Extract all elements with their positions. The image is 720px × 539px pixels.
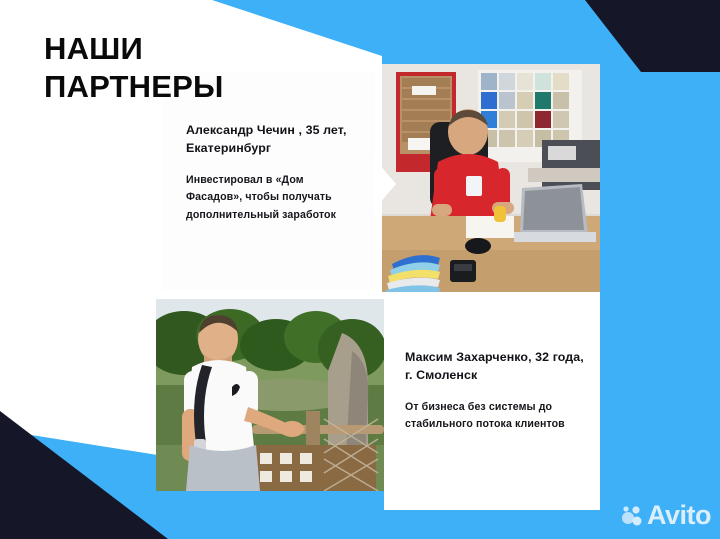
- testimonial-card-zakharchenko: Максим Захарченко, 32 года, г. Смоленск …: [384, 292, 600, 510]
- testimonial-card-chechin-body: Александр Чечин , 35 лет, Екатеринбург И…: [186, 122, 361, 224]
- avito-watermark: Avito: [621, 502, 711, 529]
- page-title: НАШИ ПАРТНЕРЫ: [44, 30, 344, 106]
- testimonial-description-chechin: Инвестировал в «Дом Фасадов», чтобы полу…: [186, 172, 361, 223]
- testimonial-name-zakharchenko: Максим Захарченко, 32 года, г. Смоленск: [405, 349, 585, 384]
- testimonial-name-chechin: Александр Чечин , 35 лет, Екатеринбург: [186, 122, 361, 157]
- testimonial-card-zakharchenko-body: Максим Захарченко, 32 года, г. Смоленск …: [405, 349, 585, 434]
- testimonial-description-zakharchenko: От бизнеса без системы до стабильного по…: [405, 399, 585, 433]
- chechin-photo-graphic: [382, 64, 600, 292]
- chevron-right-icon: [374, 158, 396, 210]
- slide-screenshot: НАШИ ПАРТНЕРЫ: [0, 0, 720, 539]
- testimonial-photo-chechin: [382, 64, 600, 292]
- avito-wordmark: Avito: [647, 502, 711, 529]
- avito-dots-icon: [621, 505, 643, 527]
- testimonial-photo-zakharchenko: [156, 299, 384, 491]
- zakharchenko-photo-graphic: [156, 299, 384, 491]
